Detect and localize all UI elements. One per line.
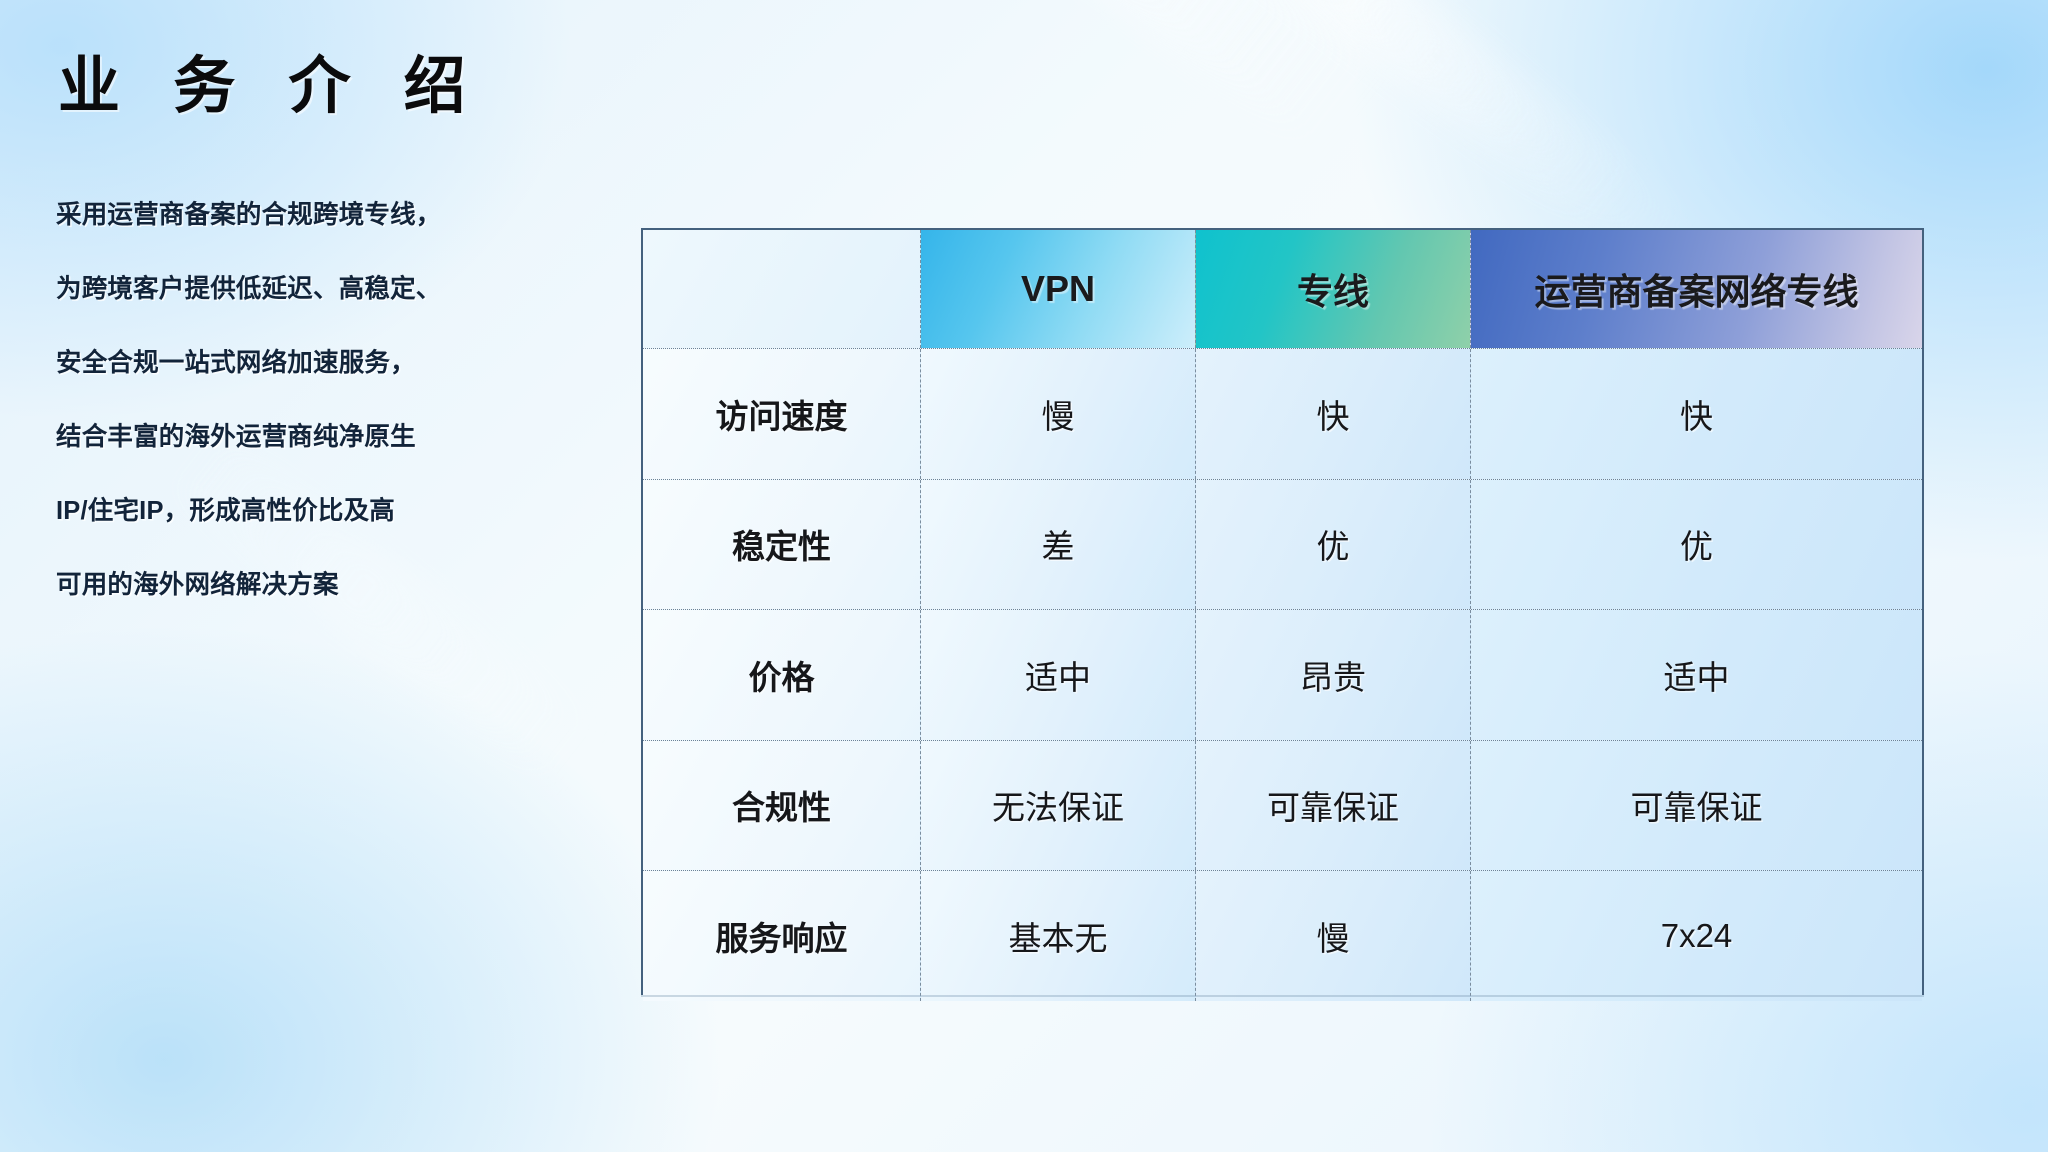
table-cell: 无法保证 <box>920 741 1195 871</box>
intro-line: 可用的海外网络解决方案 <box>56 548 486 622</box>
intro-line: 安全合规一站式网络加速服务， <box>56 326 486 400</box>
table-cell: 基本无 <box>920 871 1195 1001</box>
table-cell: 适中 <box>1470 610 1922 740</box>
table-header-corner-cell <box>643 230 920 348</box>
table-cell: 适中 <box>920 610 1195 740</box>
intro-paragraph: 采用运营商备案的合规跨境专线， 为跨境客户提供低延迟、高稳定、 安全合规一站式网… <box>56 178 486 622</box>
table-row: 合规性 无法保证 可靠保证 可靠保证 <box>643 740 1922 871</box>
table-cell: 昂贵 <box>1195 610 1470 740</box>
table-cell: 7x24 <box>1470 871 1922 1001</box>
table-cell: 慢 <box>920 349 1195 479</box>
comparison-table: VPN 专线 运营商备案网络专线 访问速度 慢 快 快 稳定性 差 优 优 价格… <box>641 228 1924 995</box>
intro-line: 为跨境客户提供低延迟、高稳定、 <box>56 252 486 326</box>
intro-line: 结合丰富的海外运营商纯净原生 <box>56 400 486 474</box>
intro-line: 采用运营商备案的合规跨境专线， <box>56 178 486 252</box>
table-cell: 可靠保证 <box>1195 741 1470 871</box>
table-row-label: 访问速度 <box>643 349 920 479</box>
table-cell: 可靠保证 <box>1470 741 1922 871</box>
table-row-label: 合规性 <box>643 741 920 871</box>
table-cell: 优 <box>1195 480 1470 610</box>
page-title: 业 务 介 绍 <box>58 48 484 126</box>
table-cell: 快 <box>1470 349 1922 479</box>
table-cell: 差 <box>920 480 1195 610</box>
table-row: 服务响应 基本无 慢 7x24 <box>643 870 1922 1001</box>
table-cell: 优 <box>1470 480 1922 610</box>
intro-line: IP/住宅IP，形成高性价比及高 <box>56 474 486 548</box>
table-header-cell-dedicated-line: 专线 <box>1195 230 1470 348</box>
table-row-label: 服务响应 <box>643 871 920 1001</box>
table-header-cell-registered-line: 运营商备案网络专线 <box>1470 230 1922 348</box>
table-row-label: 价格 <box>643 610 920 740</box>
table-row: 价格 适中 昂贵 适中 <box>643 609 1922 740</box>
table-cell: 慢 <box>1195 871 1470 1001</box>
table-bottom-rule <box>641 995 1924 997</box>
table-cell: 快 <box>1195 349 1470 479</box>
light-streak-decoration <box>1029 0 1652 242</box>
table-header-cell-vpn: VPN <box>920 230 1195 348</box>
slide-canvas: 业 务 介 绍 采用运营商备案的合规跨境专线， 为跨境客户提供低延迟、高稳定、 … <box>0 0 2048 1152</box>
table-row-label: 稳定性 <box>643 480 920 610</box>
table-row: 稳定性 差 优 优 <box>643 479 1922 610</box>
light-streak-decoration <box>811 0 1389 164</box>
table-row: 访问速度 慢 快 快 <box>643 348 1922 479</box>
table-header-row: VPN 专线 运营商备案网络专线 <box>643 230 1922 348</box>
